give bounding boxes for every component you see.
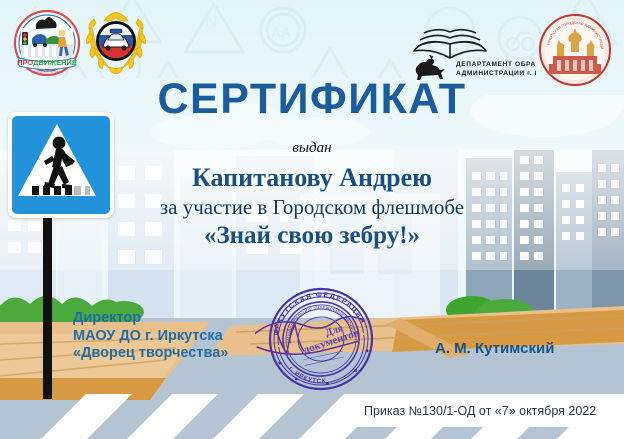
position-line-2: МАОУ ДО г. Иркутска (73, 328, 228, 346)
order-box: Приказ №130/1-ОД от «7» октября 2022 (348, 394, 624, 427)
recipient-name: Капитанову Андрею (0, 163, 624, 193)
page-title: СЕРТИФИКАТ (0, 78, 624, 121)
signatory-name: А. М. Кутимский (435, 340, 554, 357)
reason-text: за участие в Городском флешмобе (0, 195, 624, 220)
svg-text:городской проект: городской проект (34, 70, 60, 74)
certificate-page: 70 N AA (0, 0, 624, 439)
dept-caption-line2: АДМИНИСТРАЦИИ г. ИРКУТСКА (456, 70, 536, 77)
position-line-1: Директор (73, 310, 228, 328)
svg-text:AA: AA (271, 24, 291, 40)
title-wrap: СЕРТИФИКАТ (0, 78, 624, 121)
dept-caption-line1: ДЕПАРТАМЕНТ ОБРАЗОВАНИЯ (456, 61, 536, 68)
issued-label: выдан (0, 140, 624, 157)
svg-text:ПРОДВИЖЕНИЕ: ПРОДВИЖЕНИЕ (17, 58, 77, 67)
official-stamp: ИРКУТСКАЯ ФЕДЕРАЦИЯ г. ИРКУТСК МУНИЦИПАЛ… (255, 283, 387, 399)
gibdd-logo (83, 9, 149, 80)
event-name: «Знай свою зебру!» (0, 222, 624, 250)
position-line-3: «Дворец творчества» (73, 345, 228, 363)
order-text: Приказ №130/1-ОД от «7» октября 2022 (348, 404, 596, 418)
signatory-position: Директор МАОУ ДО г. Иркутска «Дворец тво… (73, 310, 228, 363)
svg-text:N: N (205, 12, 217, 31)
prodvizhenie-logo: ПРОДВИЖЕНИЕ городской проект (12, 10, 82, 81)
